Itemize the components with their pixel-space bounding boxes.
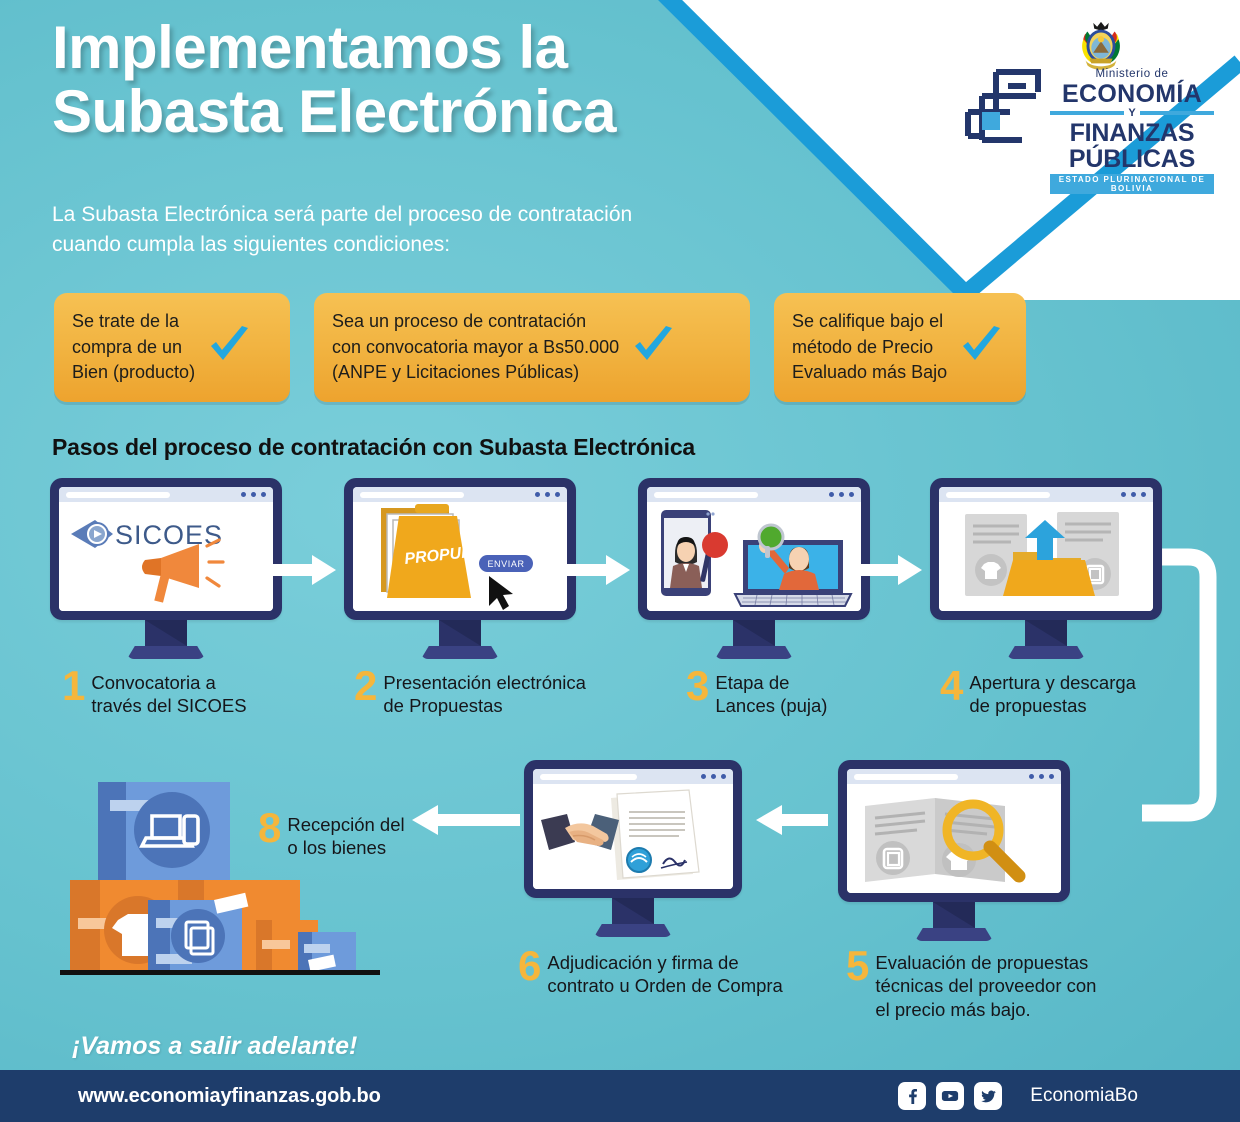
step-1-number: 1 (62, 668, 85, 703)
step-5-monitor (838, 760, 1070, 941)
step-3-label: 3 Etapa de Lances (puja) (686, 668, 827, 718)
step-2-line-1: Presentación electrónica (383, 671, 586, 694)
social-links: EconomiaBo (898, 1082, 1224, 1110)
arrow-5-to-6-icon (756, 805, 828, 840)
step-1-line-2: través del SICOES (91, 694, 246, 717)
step-2-label: 2 Presentación electrónica de Propuestas (354, 668, 586, 718)
proposal-folder-upload-icon: PROPUESTA ENVIAR (353, 502, 567, 611)
check-icon (959, 326, 1003, 368)
condition-3-line-2: método de Precio (792, 335, 947, 361)
enviar-button: ENVIAR (479, 555, 533, 572)
step-2-line-2: de Propuestas (383, 694, 586, 717)
step-5-line-3: el precio más bajo. (875, 998, 1096, 1021)
address-pill (360, 492, 464, 498)
step-4-line-1: Apertura y descarga (969, 671, 1136, 694)
step-2-monitor: PROPUESTA ENVIAR (344, 478, 576, 659)
address-pill (854, 774, 958, 780)
window-dots-icon (1121, 492, 1146, 497)
window-dots-icon (535, 492, 560, 497)
address-pill (654, 492, 758, 498)
step-4-label: 4 Apertura y descarga de propuestas (940, 668, 1136, 718)
step-8-line-2: o los bienes (287, 836, 404, 859)
window-dots-icon (1029, 774, 1054, 779)
window-dots-icon (701, 774, 726, 779)
step-6-line-2: contrato u Orden de Compra (547, 974, 783, 997)
window-dots-icon (241, 492, 266, 497)
condition-2-line-3: (ANPE y Licitaciones Públicas) (332, 360, 619, 386)
title-line-2: Subasta Electrónica (52, 80, 692, 144)
logo-ministry-label: Ministerio de (1050, 68, 1214, 81)
logo-estado-label: ESTADO PLURINACIONAL DE BOLIVIA (1050, 174, 1214, 194)
step-1-monitor: SICOES (50, 478, 282, 659)
step-3-text: Etapa de Lances (puja) (715, 668, 827, 718)
step-8-text: Recepción del o los bienes (287, 810, 404, 860)
footer-bar: www.economiayfinanzas.gob.bo EconomiaBo (0, 1070, 1240, 1122)
step-3-monitor (638, 478, 870, 659)
intro-paragraph: La Subasta Electrónica será parte del pr… (52, 200, 742, 260)
magnifier-catalog-icon (847, 784, 1061, 893)
step-3-number: 3 (686, 668, 709, 703)
condition-2-line-1: Sea un proceso de contratación (332, 309, 619, 335)
logo-y-row: Y (1050, 108, 1214, 119)
condition-card-3: Se califique bajo el método de Precio Ev… (774, 293, 1026, 402)
facebook-icon[interactable] (898, 1082, 926, 1110)
condition-card-2: Sea un proceso de contratación con convo… (314, 293, 750, 402)
twitter-icon[interactable] (974, 1082, 1002, 1110)
step-5-line-1: Evaluación de propuestas (875, 951, 1096, 974)
arrow-3-to-4-icon (858, 555, 922, 590)
logo-economia-label: ECONOMÍA (1050, 81, 1214, 107)
step-4-line-2: de propuestas (969, 694, 1136, 717)
step-6-monitor (524, 760, 742, 937)
condition-3-text: Se califique bajo el método de Precio Ev… (792, 309, 947, 386)
steps-heading: Pasos del proceso de contratación con Su… (52, 434, 695, 461)
handshake-contract-icon (533, 784, 733, 889)
page-title: Implementamos la Subasta Electrónica (52, 16, 692, 144)
step-8-number: 8 (258, 810, 281, 845)
condition-card-1: Se trate de la compra de un Bien (produc… (54, 293, 290, 402)
step-1-text: Convocatoria a través del SICOES (91, 668, 246, 718)
window-dots-icon (829, 492, 854, 497)
logo-wordmark: Ministerio de ECONOMÍA Y FINANZAS PÚBLIC… (1050, 68, 1214, 194)
browser-bar (59, 487, 273, 502)
condition-2-text: Sea un proceso de contratación con convo… (332, 309, 619, 386)
youtube-icon[interactable] (936, 1082, 964, 1110)
step-1-line-1: Convocatoria a (91, 671, 246, 694)
arrow-1-to-2-icon (272, 555, 336, 590)
check-icon (631, 326, 675, 368)
step-5-line-2: técnicas del proveedor con (875, 974, 1096, 997)
arrow-2-to-3-icon (566, 555, 630, 590)
logo-finanzas-label: FINANZAS PÚBLICAS (1050, 120, 1214, 173)
browser-bar (533, 769, 733, 784)
step-4-number: 4 (940, 668, 963, 703)
arrow-6-to-8-icon (412, 805, 520, 840)
step-5-number: 5 (846, 948, 869, 983)
step-6-number: 6 (518, 948, 541, 983)
infographic-poster: Implementamos la Subasta Electrónica La … (0, 0, 1240, 1122)
slogan: ¡Vamos a salir adelante! (72, 1032, 357, 1061)
condition-1-line-3: Bien (producto) (72, 360, 195, 386)
address-pill (540, 774, 637, 780)
logo-y-label: Y (1128, 108, 1135, 119)
step-4-text: Apertura y descarga de propuestas (969, 668, 1136, 718)
condition-1-text: Se trate de la compra de un Bien (produc… (72, 309, 195, 386)
browser-bar (939, 487, 1153, 502)
step-2-number: 2 (354, 668, 377, 703)
browser-bar (647, 487, 861, 502)
check-icon (207, 326, 251, 368)
condition-2-line-2: con convocatoria mayor a Bs50.000 (332, 335, 619, 361)
step-5-label: 5 Evaluación de propuestas técnicas del … (846, 948, 1096, 1021)
logo-rule-left (1050, 111, 1124, 115)
step-1-label: 1 Convocatoria a través del SICOES (62, 668, 247, 718)
social-handle: EconomiaBo (1030, 1085, 1138, 1107)
step-8-line-1: Recepción del (287, 813, 404, 836)
step-4-monitor (930, 478, 1162, 659)
sicoes-megaphone-icon: SICOES (59, 502, 273, 611)
step-2-text: Presentación electrónica de Propuestas (383, 668, 586, 718)
logo-glyph-icon (964, 66, 1050, 154)
address-pill (946, 492, 1050, 498)
condition-3-line-3: Evaluado más Bajo (792, 360, 947, 386)
svg-text:ENVIAR: ENVIAR (487, 559, 524, 569)
auction-bidding-icon (647, 502, 861, 611)
step-8-label: 8 Recepción del o los bienes (258, 810, 405, 860)
step-3-line-1: Etapa de (715, 671, 827, 694)
ministry-logo: Ministerio de ECONOMÍA Y FINANZAS PÚBLIC… (964, 18, 1214, 163)
intro-line-2: cuando cumpla las siguientes condiciones… (52, 230, 742, 260)
logo-rule-right (1140, 111, 1214, 115)
conditions-list: Se trate de la compra de un Bien (produc… (54, 293, 1026, 402)
condition-1-line-1: Se trate de la (72, 309, 195, 335)
step-6-text: Adjudicación y firma de contrato u Orden… (547, 948, 783, 998)
footer-website-link[interactable]: www.economiayfinanzas.gob.bo (78, 1085, 381, 1108)
title-line-1: Implementamos la (52, 16, 692, 80)
condition-3-line-1: Se califique bajo el (792, 309, 947, 335)
step-5-text: Evaluación de propuestas técnicas del pr… (875, 948, 1096, 1021)
browser-bar (353, 487, 567, 502)
delivery-boxes-icon (60, 772, 420, 994)
browser-bar (847, 769, 1061, 784)
step-6-label: 6 Adjudicación y firma de contrato u Ord… (518, 948, 783, 998)
step-6-line-1: Adjudicación y firma de (547, 951, 783, 974)
step-3-line-2: Lances (puja) (715, 694, 827, 717)
documents-upload-folder-icon (939, 502, 1153, 611)
condition-1-line-2: compra de un (72, 335, 195, 361)
address-pill (66, 492, 170, 498)
intro-line-1: La Subasta Electrónica será parte del pr… (52, 200, 742, 230)
